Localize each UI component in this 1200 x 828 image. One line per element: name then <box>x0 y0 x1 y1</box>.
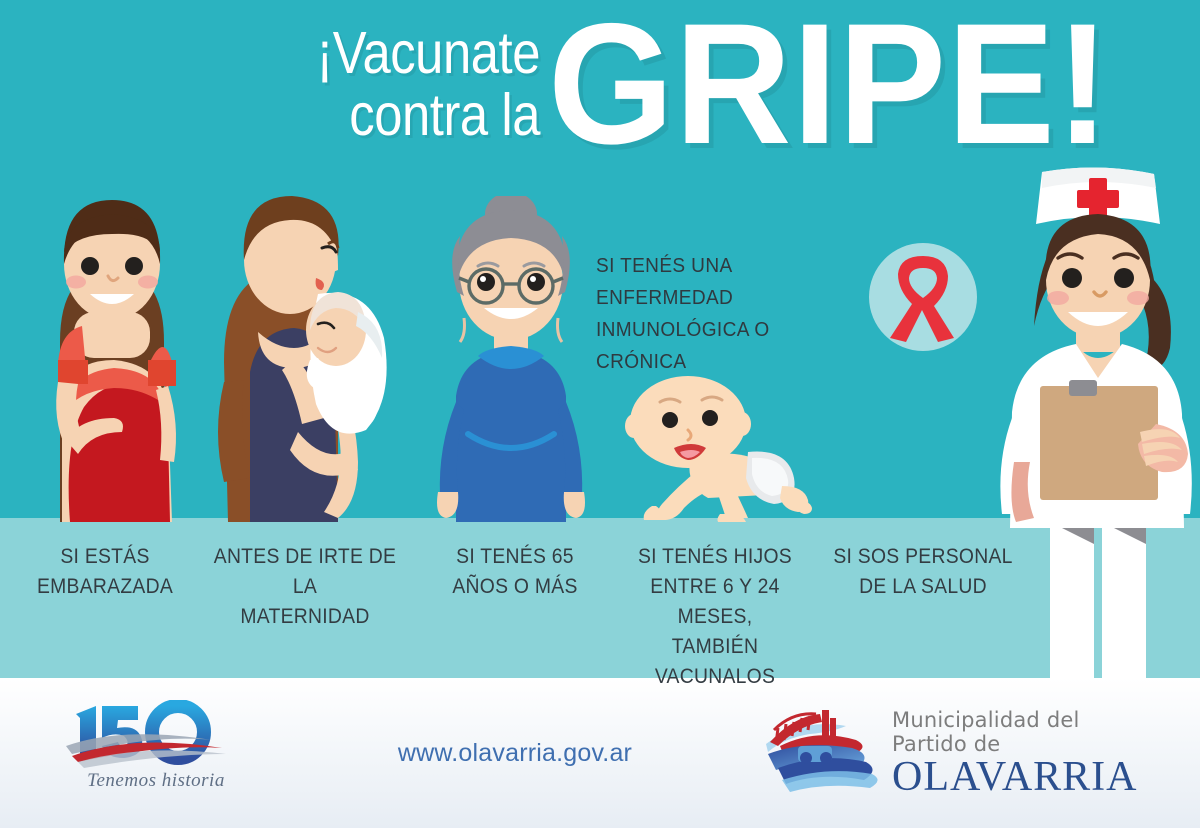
caption-elderly-line2: AÑOS O MÁS <box>430 571 601 601</box>
callout-line1: SI TENÉS UNA ENFERMEDAD <box>596 250 847 314</box>
caption-children-line3: TAMBIÉN VACUNALOS <box>612 631 819 691</box>
callout-line2: INMUNOLÓGICA O CRÓNICA <box>596 314 847 378</box>
caption-pregnant-line2: EMBARAZADA <box>20 571 191 601</box>
caption-maternity: ANTES DE IRTE DE LA MATERNIDAD <box>202 541 409 631</box>
caption-maternity-line2: MATERNIDAD <box>202 601 409 631</box>
awareness-ribbon-icon <box>886 252 960 344</box>
figure-mother-with-baby <box>198 182 413 522</box>
logo-150-anniversary: Tenemos historia <box>62 700 242 804</box>
caption-maternity-line1: ANTES DE IRTE DE LA <box>202 541 409 601</box>
municipality-line1: Municipalidad del Partido de <box>892 708 1160 756</box>
headline-line1: ¡Vacunate <box>205 22 540 84</box>
caption-children: SI TENÉS HIJOS ENTRE 6 Y 24 MESES, TAMBI… <box>612 541 819 691</box>
caption-health-line2: DE LA SALUD <box>829 571 1018 601</box>
caption-children-line2: ENTRE 6 Y 24 MESES, <box>612 571 819 631</box>
headline-line2: contra la <box>205 84 540 146</box>
figure-pregnant-woman <box>22 192 202 522</box>
figure-crawling-baby <box>612 374 822 522</box>
caption-health-line1: SI SOS PERSONAL <box>829 541 1018 571</box>
caption-health-staff: SI SOS PERSONAL DE LA SALUD <box>829 541 1018 601</box>
caption-children-line1: SI TENÉS HIJOS <box>612 541 819 571</box>
caption-pregnant: SI ESTÁS EMBARAZADA <box>20 541 191 601</box>
logo-municipality: Municipalidad del Partido de OLAVARRIA <box>760 700 1160 804</box>
caption-elderly: SI TENÉS 65 AÑOS O MÁS <box>430 541 601 601</box>
logo-150-tagline: Tenemos historia <box>68 770 244 792</box>
caption-pregnant-line1: SI ESTÁS <box>20 541 191 571</box>
figure-nurse <box>990 162 1200 678</box>
poster-root: ¡Vacunate contra la GRIPE! <box>0 0 1200 828</box>
website-url[interactable]: www.olavarria.gov.ar <box>330 739 700 768</box>
municipality-line2: OLAVARRIA <box>892 755 1160 799</box>
caption-elderly-line1: SI TENÉS 65 <box>430 541 601 571</box>
municipality-text: Municipalidad del Partido de OLAVARRIA <box>892 708 1160 799</box>
figure-elderly-woman <box>416 196 606 522</box>
callout-chronic-illness: SI TENÉS UNA ENFERMEDAD INMUNOLÓGICA O C… <box>596 250 847 378</box>
headline-main: GRIPE! <box>548 0 1111 170</box>
headline-subtitle: ¡Vacunate contra la <box>205 22 540 146</box>
